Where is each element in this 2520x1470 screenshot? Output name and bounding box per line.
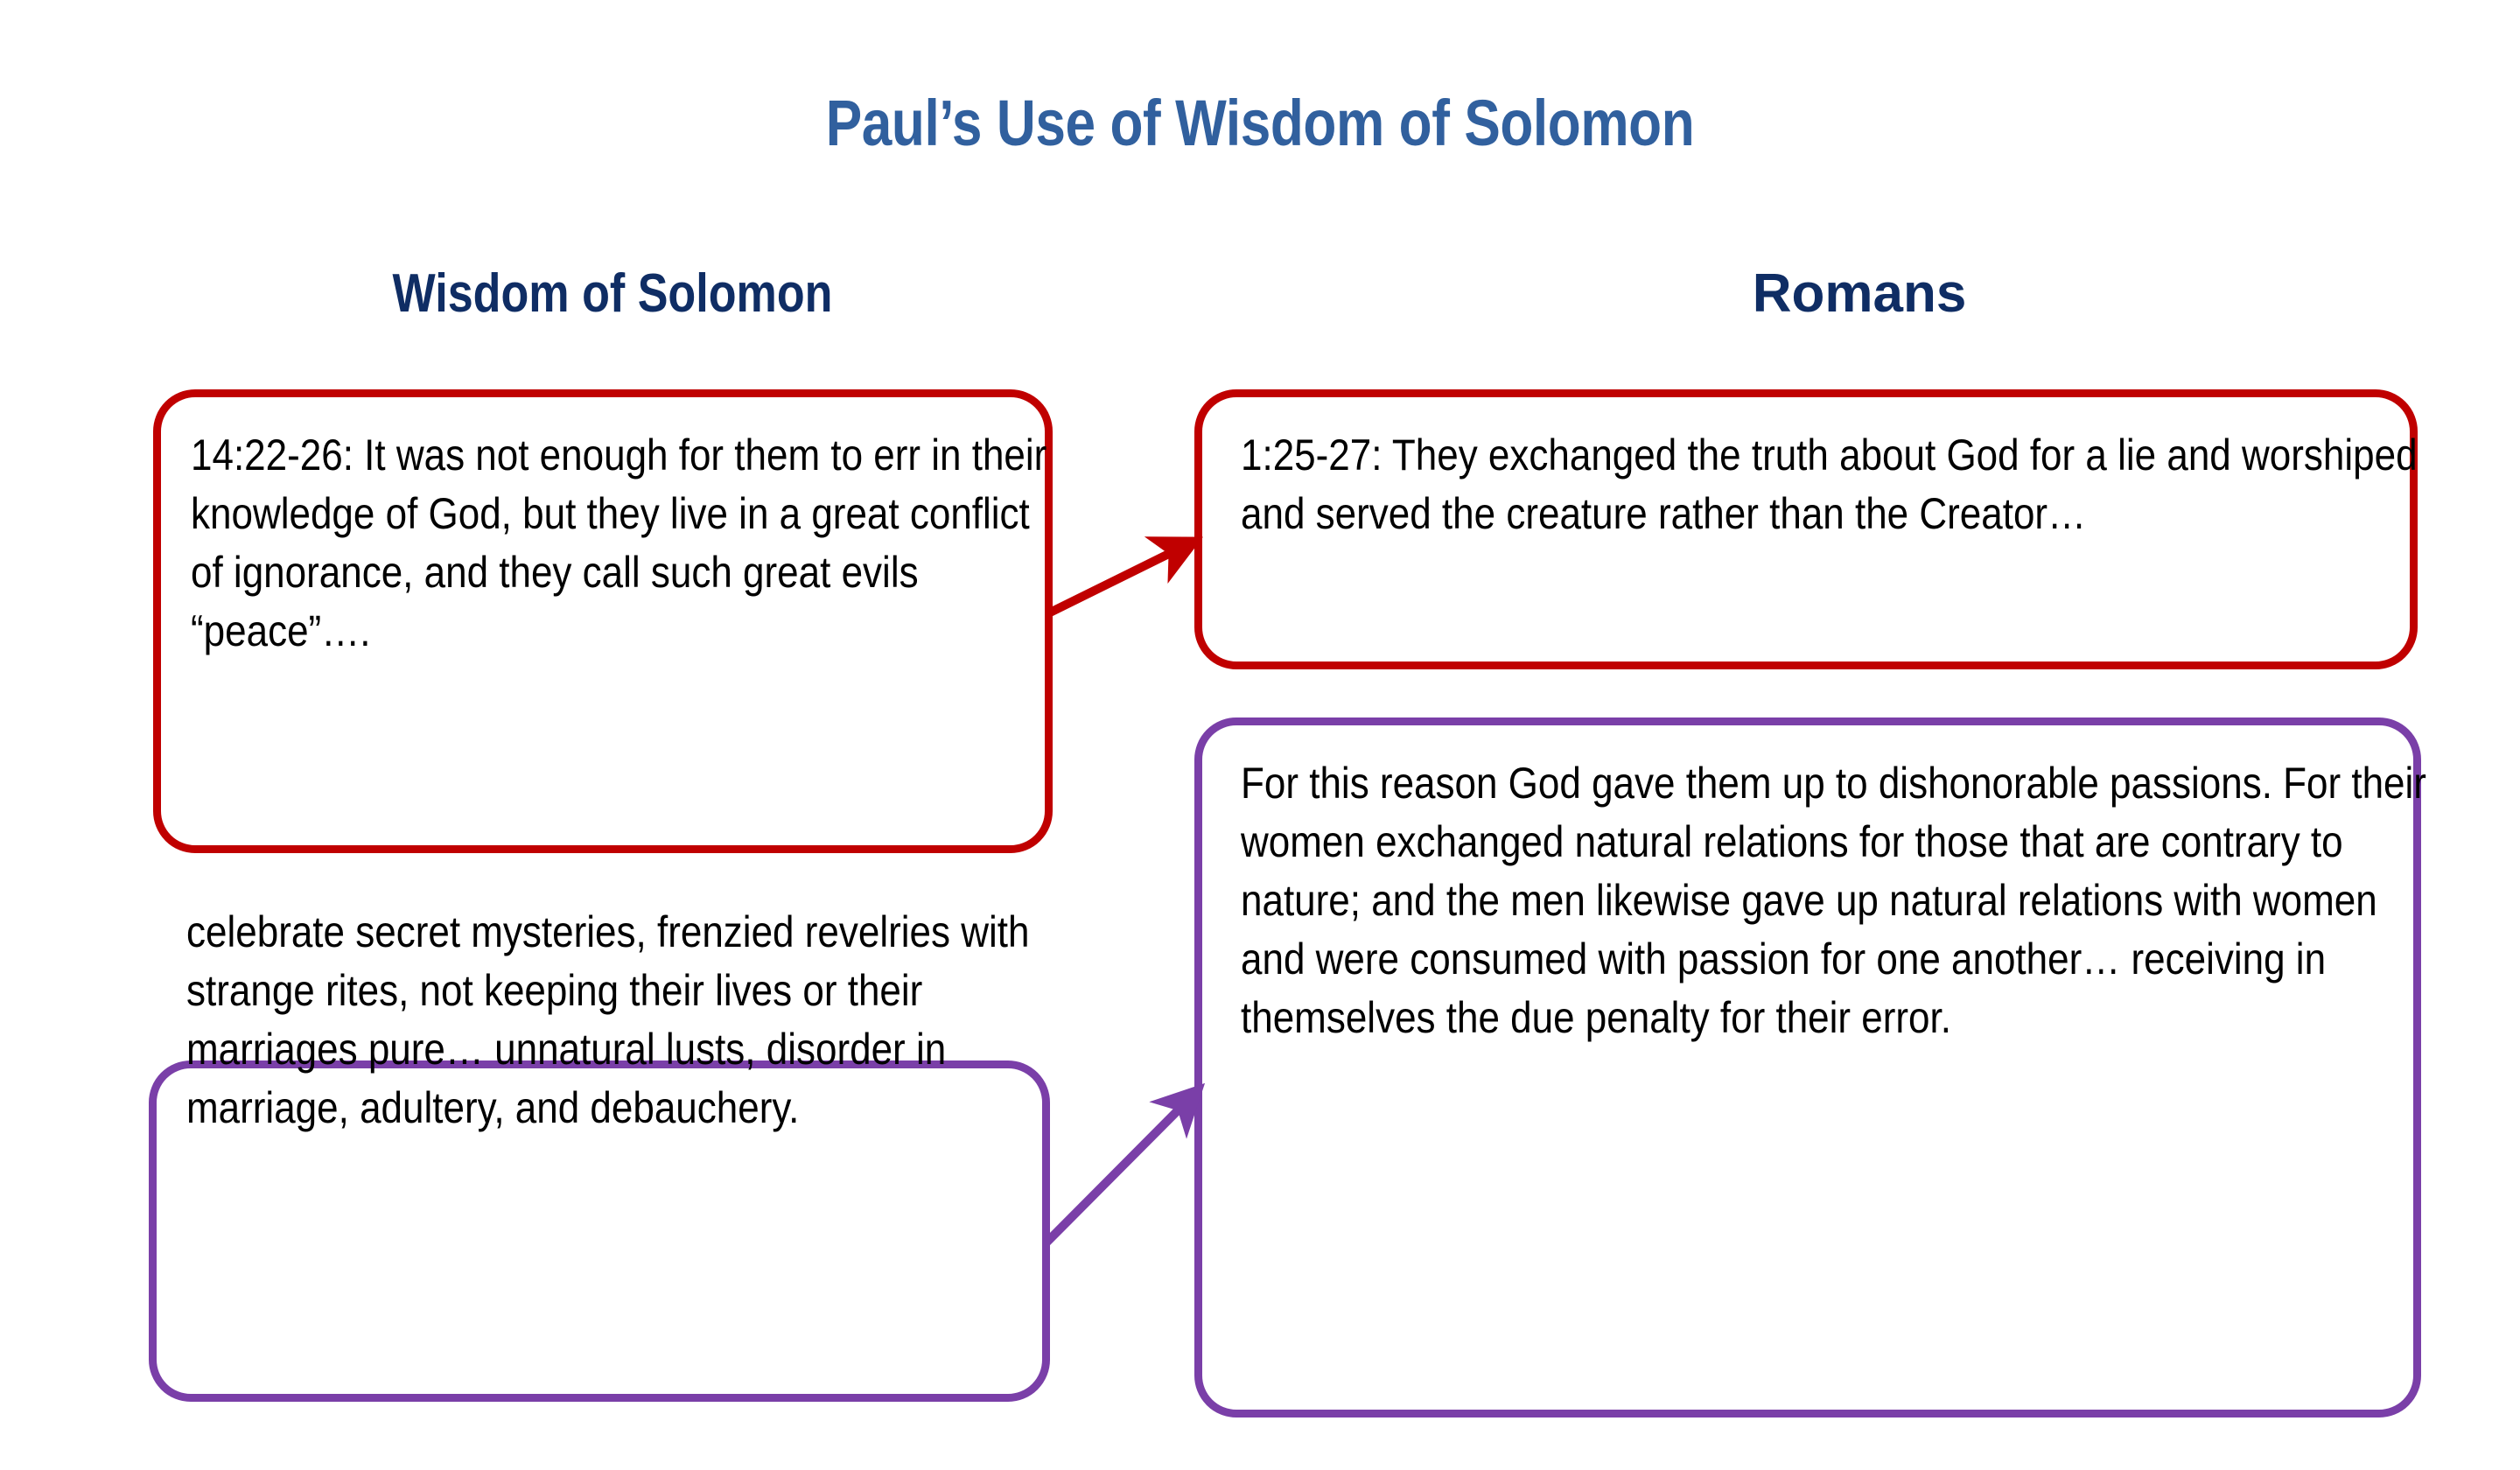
column-heading-wisdom-of-solomon: Wisdom of Solomon <box>98 262 1127 325</box>
quote-text-wisdom-first: 14:22-26: It was not enough for them to … <box>191 426 1053 661</box>
quote-text-romans-second: For this reason God gave them up to dish… <box>1241 754 2446 1047</box>
connector-arrow-purple <box>1046 1089 1199 1242</box>
quote-text-romans-first: 1:25-27: They exchanged the truth about … <box>1241 426 2418 543</box>
column-heading-romans: Romans <box>1312 262 2406 325</box>
connector-arrow-red <box>1050 541 1195 612</box>
slide-canvas: Paul’s Use of Wisdom of Solomon Wisdom o… <box>0 0 2520 1470</box>
quote-text-wisdom-second: celebrate secret mysteries, frenzied rev… <box>186 903 1049 1137</box>
page-title: Paul’s Use of Wisdom of Solomon <box>201 86 2318 160</box>
